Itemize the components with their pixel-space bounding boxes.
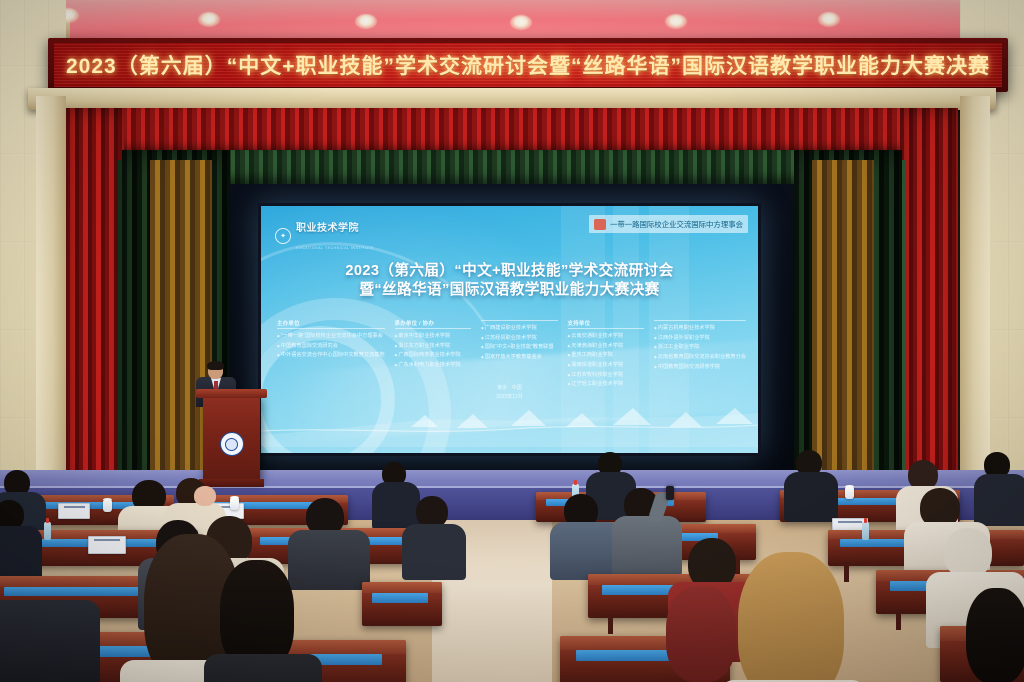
person-head (666, 586, 736, 682)
slide-dune-graphic (261, 401, 758, 447)
curtain-gold-right (812, 160, 874, 492)
slide-logo-right: 一带一路国际校企业交流国际中方理事会 (589, 215, 748, 233)
desk-nameplate-strip (372, 593, 428, 603)
column-3-item-2: 江苏经贸职业技术学院 (481, 334, 558, 344)
slide-title-line2: 暨“丝路华语”国际汉语教学职业能力大赛决赛 (261, 281, 758, 300)
slide-column-2: 承办单位 / 协办 南京中华职业技术学院 浙江东方职业技术学院 广西国际商务职业… (395, 319, 472, 390)
column-2-item-4: 广东水利电力职业技术学院 (395, 361, 472, 371)
person-body (402, 524, 466, 580)
desk-leg (844, 562, 849, 582)
column-1-head: 主办单位 (277, 319, 385, 329)
paper-cup (230, 498, 239, 510)
column-3-item-4: 国家开放大学教育基金会 (481, 353, 558, 363)
person-body (784, 472, 838, 522)
column-5-item-1: 内蒙古机电职业技术学院 (654, 324, 746, 334)
slide-header: ✦ 职业技术学院 VOCATIONAL TECHNICAL INSTITUTE … (261, 206, 758, 240)
slide-column-3: 广西建设职业技术学院 江苏经贸职业技术学院 国际“中文+职业技能”教育联盟 国家… (481, 319, 558, 390)
curtain-valance-red (66, 108, 958, 154)
podium-lectern (203, 396, 260, 481)
column-4-item-1: 云南交通职业技术学院 (568, 332, 645, 342)
proscenium-column-right (960, 96, 990, 496)
institute-logo-cn: 职业技术学院 (296, 223, 359, 234)
column-5-item-3: 浙江工业职业学院 (654, 343, 746, 353)
column-4-item-4: 湖南铁道职业技术学院 (568, 361, 645, 371)
slide-logo-left: ✦ 职业技术学院 VOCATIONAL TECHNICAL INSTITUTE (275, 218, 374, 254)
name-placard (58, 503, 90, 519)
column-2-item-1: 南京中华职业技术学院 (395, 332, 472, 342)
paper-cup (845, 487, 854, 499)
person-body (288, 530, 370, 590)
curtain-red-right (900, 108, 958, 493)
name-placard (88, 536, 126, 554)
dune-silhouette-icon (261, 401, 758, 447)
smartphone (666, 486, 674, 500)
ceiling-spotlight-3 (355, 14, 377, 29)
column-4-item-3: 重庆工商职业学院 (568, 351, 645, 361)
desk-top (362, 582, 442, 593)
led-banner: 2023（第六届）“中文+职业技能”学术交流研讨会暨“丝路华语”国际汉语教学职业… (54, 43, 1002, 87)
ceiling-spotlight-5 (665, 14, 687, 29)
slide-footer: 南京 · 中国 2023年12月 (261, 384, 758, 401)
desk-leg (896, 610, 901, 630)
institute-emblem-icon: ✦ (275, 228, 291, 244)
person-head (194, 486, 216, 506)
slide-footer-line1: 南京 · 中国 (261, 384, 758, 393)
column-1-item-3: 中外语言交流合作中心国际中文教育交流基地 (277, 351, 385, 361)
column-1-item-1: “一带一路”国际校校企业交流协会中方理事会 (277, 332, 385, 342)
banner-text: 2023（第六届）“中文+职业技能”学术交流研讨会暨“丝路华语”国际汉语教学职业… (66, 50, 990, 80)
person-body (612, 516, 682, 576)
slide-column-5: 内蒙古机电职业技术学院 江西外语外贸职业学院 浙江工业职业学院 云南省教育国际交… (654, 319, 746, 390)
column-5-item-4: 云南省教育国际交流协会职业教育分会 (654, 353, 746, 363)
proscenium-header (28, 88, 996, 110)
column-2-head: 承办单位 / 协办 (395, 319, 472, 329)
column-4-item-2: 天津渤海职业技术学院 (568, 342, 645, 352)
column-5-item-5: 中国教育国际交流研修学院 (654, 363, 746, 373)
conference-photo: 2023（第六届）“中文+职业技能”学术交流研讨会暨“丝路华语”国际汉语教学职业… (0, 0, 1024, 682)
projection-screen: ✦ 职业技术学院 VOCATIONAL TECHNICAL INSTITUTE … (261, 206, 758, 453)
led-banner-frame: 2023（第六届）“中文+职业技能”学术交流研讨会暨“丝路华语”国际汉语教学职业… (48, 38, 1008, 92)
institute-logo-en: VOCATIONAL TECHNICAL INSTITUTE (296, 246, 374, 250)
slide-column-1: 主办单位 “一带一路”国际校校企业交流协会中方理事会 中国教育国际交流研究会 中… (277, 319, 385, 390)
person-body (204, 654, 322, 682)
table-row (362, 582, 442, 626)
alliance-mark-icon (594, 219, 606, 230)
person-head (966, 588, 1024, 682)
ceiling-spotlight-4 (510, 15, 532, 30)
podium-top-surface (196, 389, 267, 398)
column-3-item-1: 广西建设职业技术学院 (481, 324, 558, 334)
proscenium-column-left (36, 96, 66, 496)
person-body (372, 482, 420, 530)
desk-top (286, 640, 406, 654)
slide-organizer-columns: 主办单位 “一带一路”国际校校企业交流协会中方理事会 中国教育国际交流研究会 中… (277, 319, 746, 390)
ceiling-spotlight-6 (818, 12, 840, 27)
person-body (0, 526, 42, 582)
ceiling-spotlight-2 (198, 12, 220, 27)
alliance-logo-text: 一带一路国际校企业交流国际中方理事会 (610, 219, 743, 230)
column-3-item-3: 国际“中文+职业技能”教育联盟 (481, 343, 558, 353)
slide-column-4: 支持单位 云南交通职业技术学院 天津渤海职业技术学院 重庆工商职业学院 湖南铁道… (568, 319, 645, 390)
column-2-item-2: 浙江东方职业技术学院 (395, 342, 472, 352)
speaker-hair (207, 361, 224, 370)
water-bottle (44, 522, 51, 540)
institute-crest-icon (220, 432, 244, 456)
person-body (0, 600, 100, 682)
curtain-valance-green (170, 150, 854, 184)
column-5-item-2: 江西外语外贸职业学院 (654, 334, 746, 344)
column-4-head: 支持单位 (568, 319, 645, 329)
desk-leg (608, 614, 613, 634)
column-5-head (654, 319, 746, 321)
column-4-item-5: 江苏农牧科技职业学院 (568, 371, 645, 381)
curtain-red-left (66, 108, 124, 493)
column-2-item-3: 广西国际商务职业技术学院 (395, 351, 472, 361)
person-head (944, 528, 992, 578)
projection-screen-frame: ✦ 职业技术学院 VOCATIONAL TECHNICAL INSTITUTE … (258, 203, 761, 456)
column-1-item-2: 中国教育国际交流研究会 (277, 342, 385, 352)
slide-title: 2023（第六届）“中文+职业技能”学术交流研讨会 暨“丝路华语”国际汉语教学职… (261, 262, 758, 299)
person-head (738, 552, 844, 682)
water-bottle (862, 522, 869, 540)
slide-footer-line2: 2023年12月 (261, 393, 758, 402)
person-body (974, 474, 1024, 526)
paper-cup (103, 500, 112, 512)
column-3-head (481, 319, 558, 321)
slide-title-line1: 2023（第六届）“中文+职业技能”学术交流研讨会 (261, 262, 758, 281)
